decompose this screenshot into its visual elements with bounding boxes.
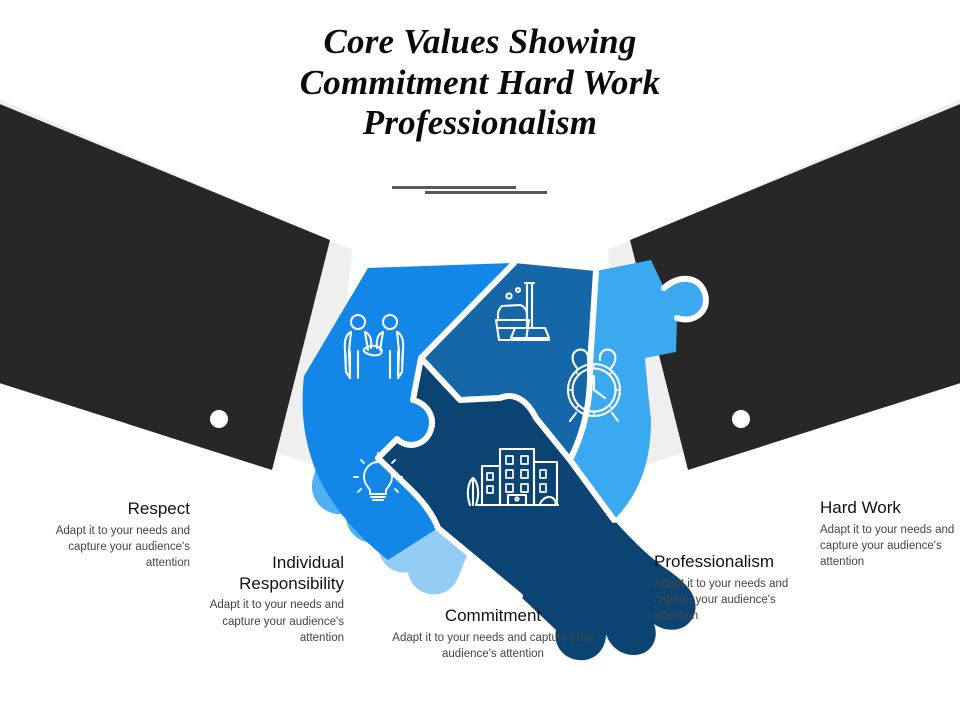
callout-respect: Respect Adapt it to your needs and captu… <box>28 499 190 572</box>
callout-professionalism: Professionalism Adapt it to your needs a… <box>654 552 814 625</box>
callout-professionalism-body: Adapt it to your needs and capture your … <box>654 576 814 625</box>
callout-hard-work: Hard Work Adapt it to your needs and cap… <box>820 498 960 571</box>
callout-commitment-title: Commitment <box>382 606 604 627</box>
divider-line-bottom <box>425 191 547 194</box>
callout-individual-responsibility-title: Individual Responsibility <box>186 553 344 594</box>
callout-commitment-body: Adapt it to your needs and capture your … <box>382 630 604 663</box>
title-divider <box>370 186 570 198</box>
callout-professionalism-title: Professionalism <box>654 552 814 573</box>
page-title-block: Core Values Showing Commitment Hard Work… <box>180 22 780 144</box>
callout-hard-work-title: Hard Work <box>820 498 960 519</box>
left-sleeve <box>0 100 330 470</box>
callout-respect-body: Adapt it to your needs and capture your … <box>28 523 190 572</box>
callout-individual-responsibility-body: Adapt it to your needs and capture your … <box>186 597 344 646</box>
callout-hard-work-body: Adapt it to your needs and capture your … <box>820 522 960 571</box>
callout-individual-responsibility: Individual Responsibility Adapt it to yo… <box>186 553 344 646</box>
divider-line-top <box>392 186 516 189</box>
callout-respect-title: Respect <box>28 499 190 520</box>
callout-commitment: Commitment Adapt it to your needs and ca… <box>382 606 604 662</box>
left-sleeve-button <box>210 410 228 428</box>
page-title: Core Values Showing Commitment Hard Work… <box>180 22 780 144</box>
right-sleeve-button <box>732 410 750 428</box>
